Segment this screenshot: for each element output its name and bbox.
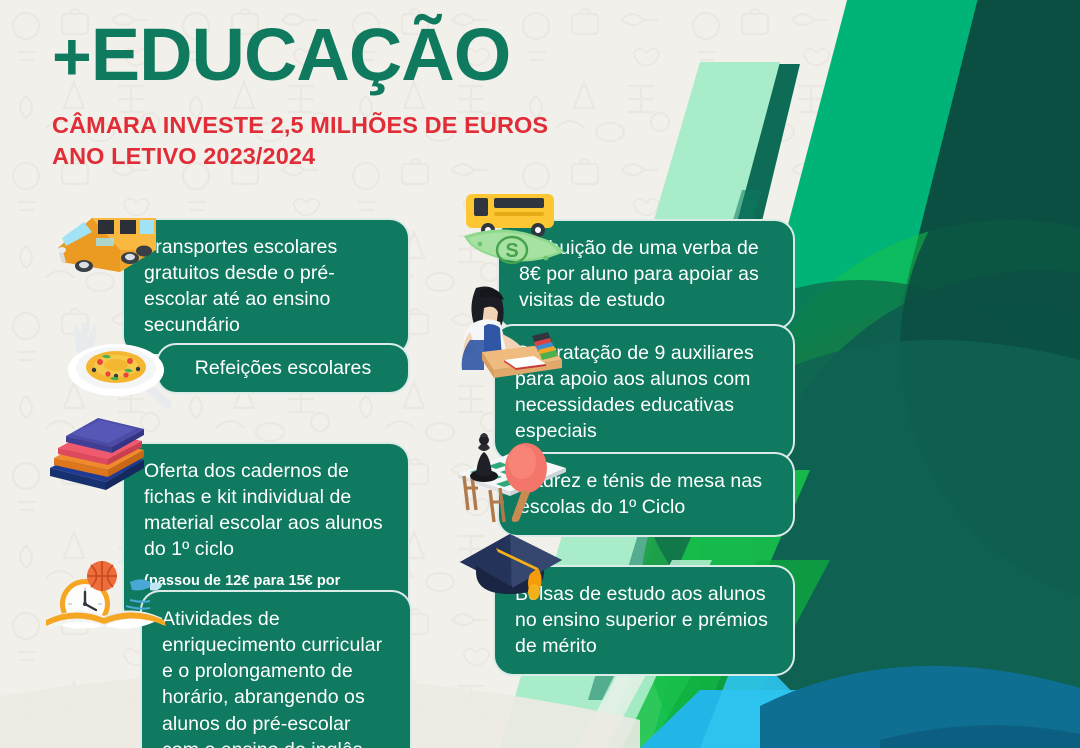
pill-atividades-enriquecimento[interactable]: Atividades de enriquecimento curricular …	[140, 590, 412, 748]
poster-header: +EDUCAÇÃO CÂMARA INVESTE 2,5 MILHÕES DE …	[52, 18, 548, 172]
title-plus-sign: +	[52, 19, 91, 95]
title-text: EDUCAÇÃO	[91, 13, 511, 96]
pill-text: Oferta dos cadernos de fichas e kit indi…	[144, 460, 383, 560]
pill-text: Atividades de enriquecimento curricular …	[162, 608, 382, 748]
book-stack-icon	[44, 404, 162, 500]
open-book-clock-ball-icon	[38, 552, 174, 650]
pill-text: Refeições escolares	[195, 357, 372, 379]
page-title: +EDUCAÇÃO	[52, 18, 548, 92]
subtitle-line-2: ANO LETIVO 2023/2024	[52, 141, 548, 172]
student-desk-icon	[446, 282, 566, 386]
graduation-cap-icon	[452, 528, 568, 614]
pill-refeicoes-escolares[interactable]: Refeições escolares	[156, 343, 410, 394]
infographic-poster: +EDUCAÇÃO CÂMARA INVESTE 2,5 MILHÕES DE …	[0, 0, 1080, 748]
bus-money-icon: S	[452, 182, 576, 294]
subtitle-line-1: CÂMARA INVESTE 2,5 MILHÕES DE EUROS	[52, 110, 548, 141]
chess-pingpong-icon	[442, 418, 574, 522]
meal-plate-icon	[52, 318, 180, 410]
school-bus-icon	[40, 188, 172, 288]
svg-text:S: S	[505, 240, 518, 262]
poster-subtitle: CÂMARA INVESTE 2,5 MILHÕES DE EUROS ANO …	[52, 110, 548, 172]
